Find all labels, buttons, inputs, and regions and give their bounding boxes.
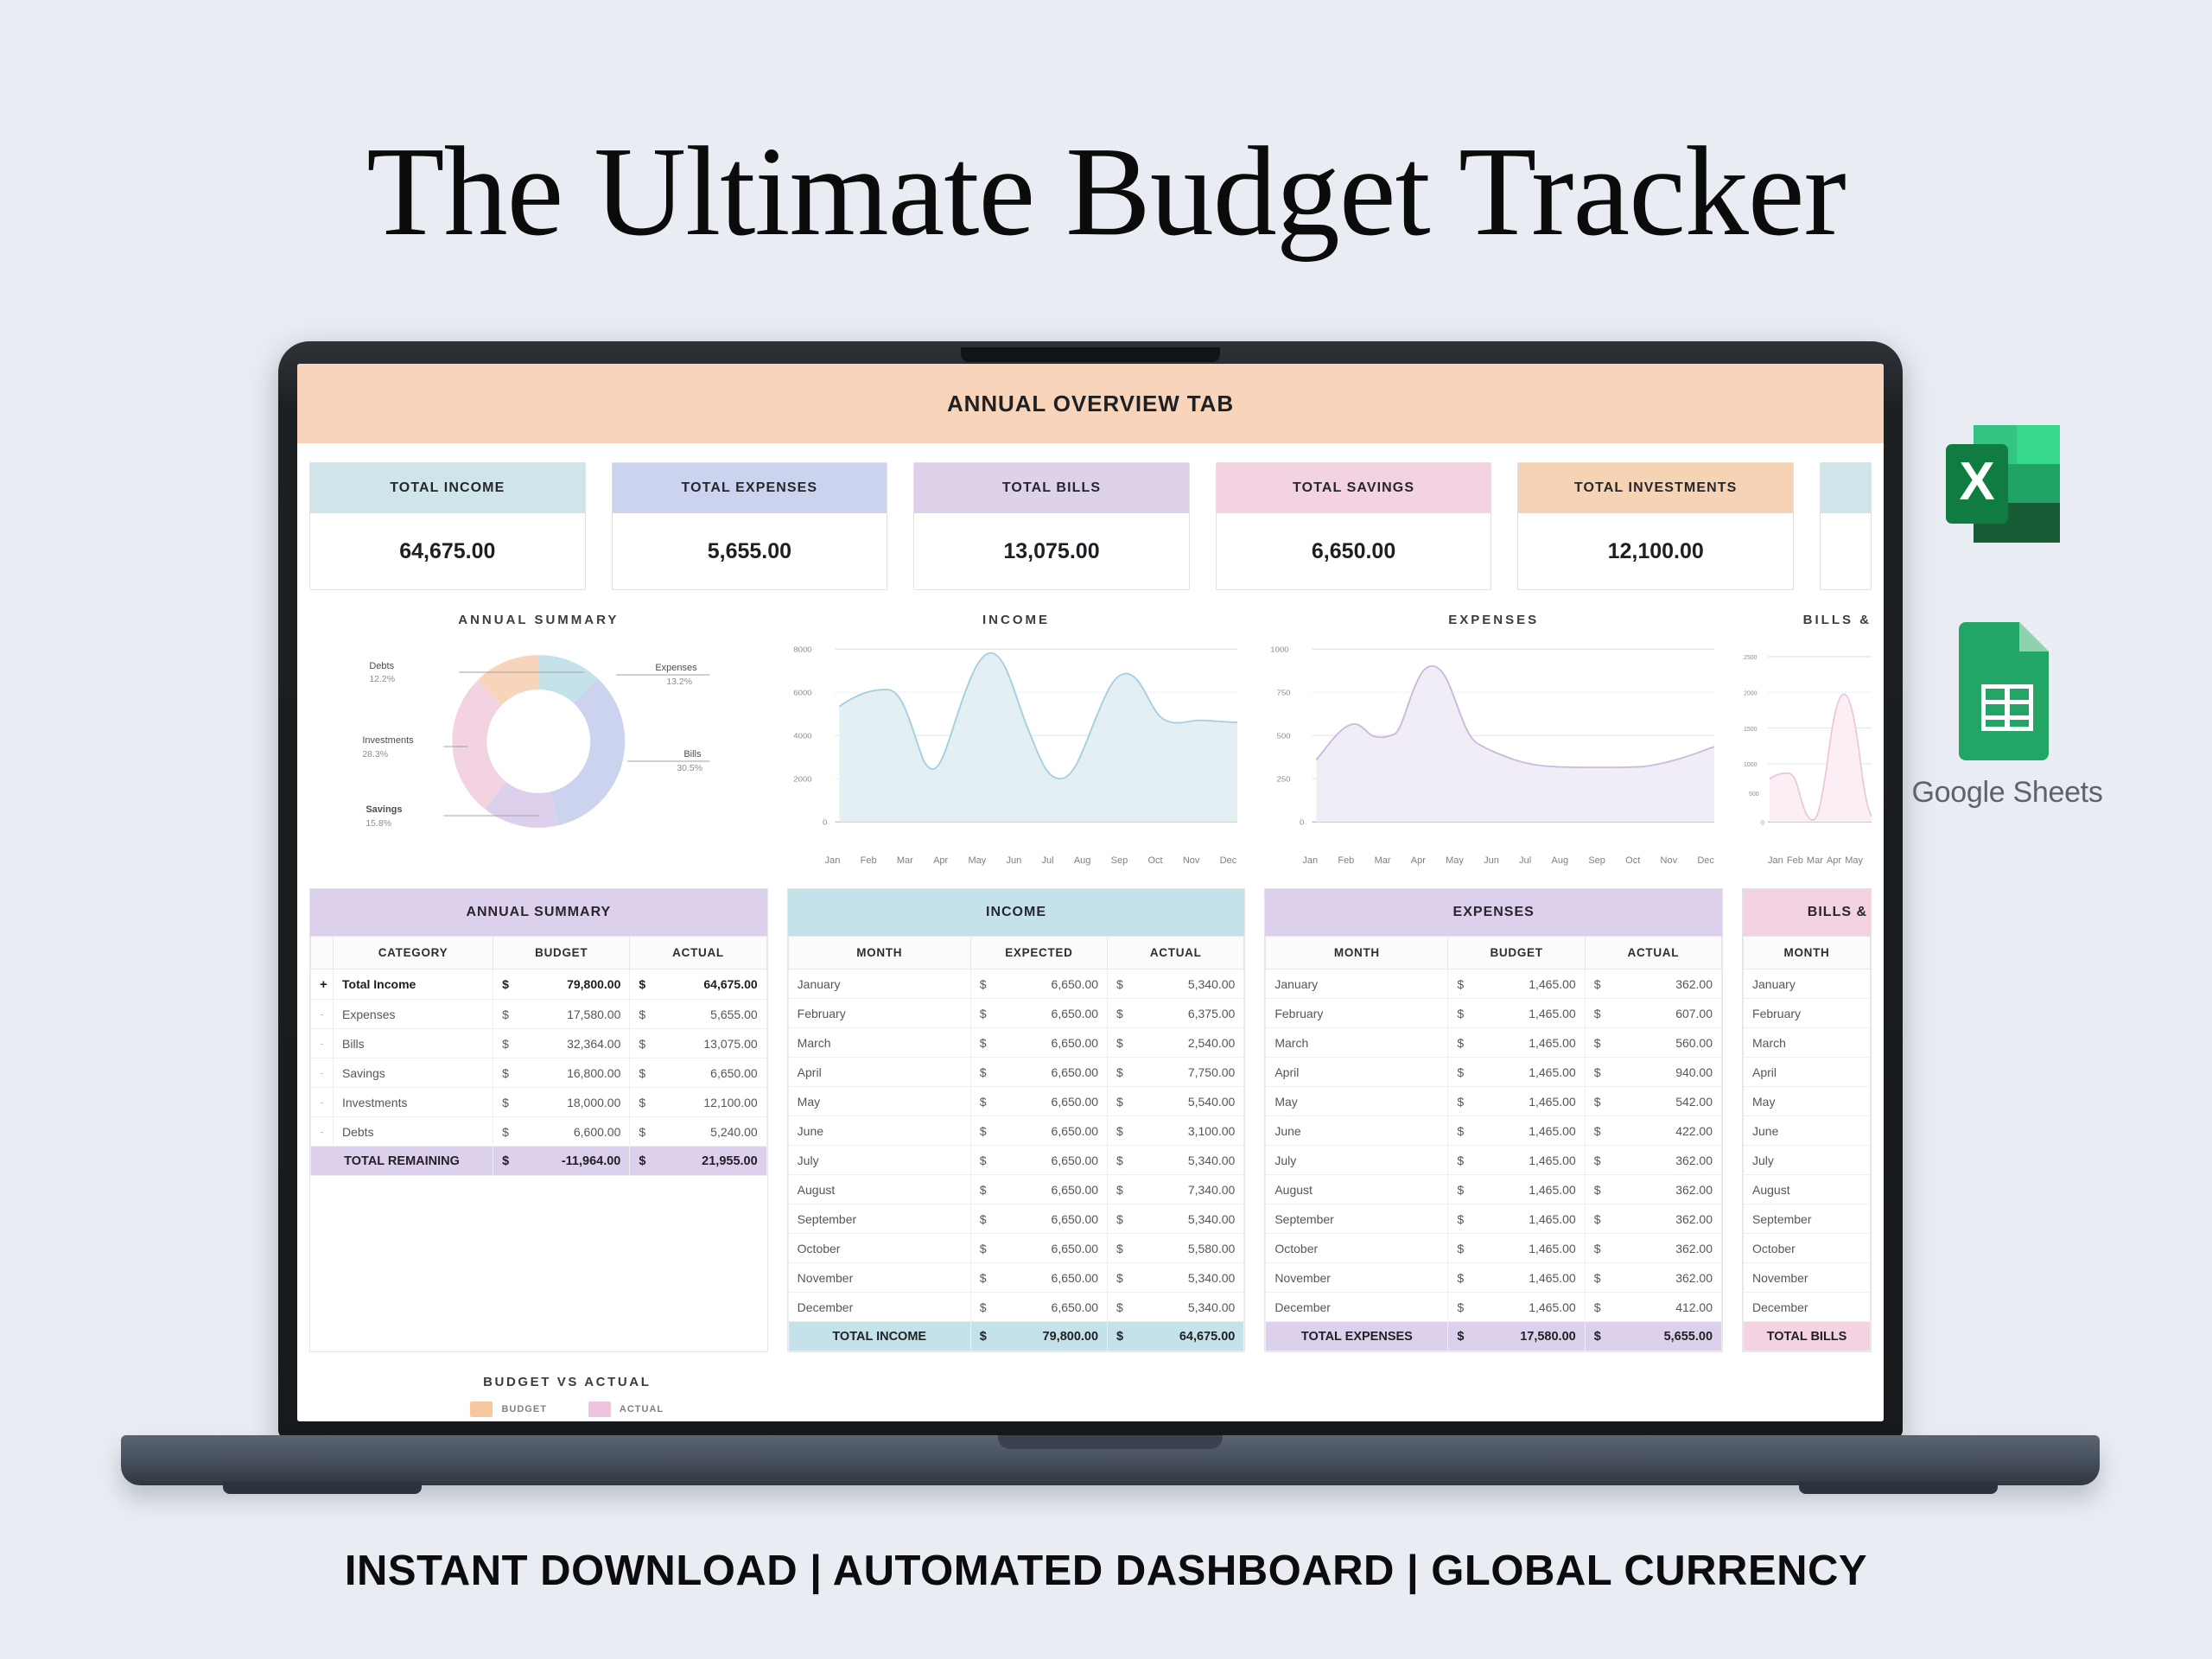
table-row[interactable]: June$6,650.00$3,100.00 (788, 1116, 1244, 1146)
donut-label-savings: Savings (365, 804, 402, 815)
svg-text:2000: 2000 (1744, 689, 1758, 696)
table-row[interactable]: April (1744, 1058, 1871, 1087)
table-row[interactable]: May$1,465.00$542.00 (1266, 1087, 1722, 1116)
chart-title: BILLS & (1742, 613, 1872, 627)
cell-expected: $6,650.00 (970, 1205, 1107, 1234)
expenses-area-plot: 1000 750 500 250 0 (1264, 636, 1723, 852)
total-expected: $79,800.00 (970, 1322, 1107, 1351)
cell-actual: $607.00 (1585, 999, 1721, 1028)
chart-bills-area[interactable]: BILLS & 2500 2000 1500 (1742, 613, 1872, 866)
table-row[interactable]: September$6,650.00$5,340.00 (788, 1205, 1244, 1234)
svg-text:500: 500 (1749, 789, 1759, 797)
x-tick: Oct (1147, 855, 1162, 866)
kpi-card-total-bills[interactable]: TOTAL BILLS 13,075.00 (913, 462, 1190, 590)
x-tick: Aug (1074, 855, 1091, 866)
laptop-screen: ANNUAL OVERVIEW TAB TOTAL INCOME 64,675.… (297, 364, 1884, 1421)
cell-month: July (1266, 1146, 1448, 1175)
cell-month: November (788, 1263, 970, 1293)
spreadsheet-dashboard: ANNUAL OVERVIEW TAB TOTAL INCOME 64,675.… (297, 364, 1884, 1421)
cell-month: November (1744, 1263, 1871, 1293)
x-tick: Mar (1375, 855, 1391, 866)
table-row[interactable]: August$1,465.00$362.00 (1266, 1175, 1722, 1205)
table-row[interactable]: August (1744, 1175, 1871, 1205)
cell-actual: $542.00 (1585, 1087, 1721, 1116)
svg-text:0: 0 (1300, 818, 1304, 826)
wordmark-google: Google (1911, 776, 2005, 809)
table-row[interactable]: January$1,465.00$362.00 (1266, 969, 1722, 999)
table-row[interactable]: - Investments $18,000.00 $12,100.00 (311, 1088, 767, 1117)
cell-actual: $5,240.00 (630, 1117, 766, 1147)
cell-budget: $16,800.00 (493, 1058, 630, 1088)
cell-actual: $5,340.00 (1108, 1205, 1244, 1234)
table-row[interactable]: July (1744, 1146, 1871, 1175)
col-month: MONTH (1744, 937, 1871, 969)
col-month: MONTH (1266, 937, 1448, 969)
total-label: TOTAL BILLS (1744, 1322, 1871, 1351)
table-row[interactable]: November$6,650.00$5,340.00 (788, 1263, 1244, 1293)
table-row[interactable]: January (1744, 969, 1871, 999)
cell-month: December (788, 1293, 970, 1322)
kpi-label (1821, 463, 1871, 513)
total-actual: $64,675.00 (1108, 1322, 1244, 1351)
table-annual-summary[interactable]: ANNUAL SUMMARY CATEGORY BUDGET ACTUAL + (309, 888, 768, 1352)
chart-title: ANNUAL SUMMARY (309, 613, 768, 627)
legend-swatch-actual (588, 1402, 611, 1417)
cell-month: May (1266, 1087, 1448, 1116)
donut-label-debts: Debts (369, 661, 394, 671)
x-tick: Nov (1183, 855, 1200, 866)
bills-x-axis: Jan Feb Mar Apr May (1742, 852, 1872, 866)
kpi-value: 5,655.00 (613, 513, 887, 589)
x-tick: Jun (1484, 855, 1499, 866)
table-row[interactable]: - Savings $16,800.00 $6,650.00 (311, 1058, 767, 1088)
cell-actual: $560.00 (1585, 1028, 1721, 1058)
cell-actual: $412.00 (1585, 1293, 1721, 1322)
svg-text:750: 750 (1277, 689, 1291, 696)
kpi-value: 6,650.00 (1217, 513, 1491, 589)
cell-month: June (1266, 1116, 1448, 1146)
x-tick: Nov (1661, 855, 1678, 866)
kpi-card-total-expenses[interactable]: TOTAL EXPENSES 5,655.00 (612, 462, 888, 590)
cell-expected: $6,650.00 (970, 1175, 1107, 1205)
cell-category: Bills (334, 1029, 493, 1058)
wordmark-sheets: Sheets (2012, 776, 2102, 809)
cell-budget: $1,465.00 (1448, 1028, 1585, 1058)
table-row[interactable]: August$6,650.00$7,340.00 (788, 1175, 1244, 1205)
laptop-mockup: ANNUAL OVERVIEW TAB TOTAL INCOME 64,675.… (121, 341, 2100, 1525)
google-sheets-icon (1955, 622, 2059, 760)
col-month: MONTH (788, 937, 970, 969)
cell-expected: $6,650.00 (970, 1234, 1107, 1263)
cell-month: June (1744, 1116, 1871, 1146)
cell-expected: $6,650.00 (970, 1058, 1107, 1087)
cell-month: December (1744, 1293, 1871, 1322)
cell-budget: $1,465.00 (1448, 1087, 1585, 1116)
cell-month: November (1266, 1263, 1448, 1293)
legend-actual: ACTUAL (588, 1402, 664, 1417)
cell-actual: $7,750.00 (1108, 1058, 1244, 1087)
charts-row: ANNUAL SUMMARY (297, 590, 1884, 866)
cell-actual: $3,100.00 (1108, 1116, 1244, 1146)
cell-month: May (788, 1087, 970, 1116)
cell-actual: $5,340.00 (1108, 1146, 1244, 1175)
x-tick: Apr (1411, 855, 1426, 866)
income-area-plot: 8000 6000 4000 2000 0 (787, 636, 1246, 852)
bills-rows: JanuaryFebruaryMarchAprilMayJuneJulyAugu… (1744, 969, 1871, 1322)
col-budget: BUDGET (493, 937, 630, 969)
cell-expected: $6,650.00 (970, 1087, 1107, 1116)
table-banner: EXPENSES (1265, 889, 1722, 936)
kpi-value: 13,075.00 (914, 513, 1189, 589)
cell-category: Investments (334, 1088, 493, 1117)
chart-income-area[interactable]: INCOME 8000 6000 4000 2 (787, 613, 1246, 866)
cell-expected: $6,650.00 (970, 1146, 1107, 1175)
cell-month: August (1744, 1175, 1871, 1205)
cell-category: Savings (334, 1058, 493, 1088)
svg-text:1500: 1500 (1744, 724, 1758, 732)
cell-expected: $6,650.00 (970, 999, 1107, 1028)
table-row[interactable]: November (1744, 1263, 1871, 1293)
table-row[interactable]: February$1,465.00$607.00 (1266, 999, 1722, 1028)
income-x-axis: Jan Feb Mar Apr May Jun Jul Aug Sep Oct … (787, 852, 1246, 866)
cell-month: September (1744, 1205, 1871, 1234)
x-tick: Apr (1827, 855, 1841, 866)
cell-actual: $13,075.00 (630, 1029, 766, 1058)
cell-actual: $2,540.00 (1108, 1028, 1244, 1058)
cell-month: February (788, 999, 970, 1028)
cell-month: October (1744, 1234, 1871, 1263)
kpi-label: TOTAL SAVINGS (1217, 463, 1491, 513)
x-tick: Jan (1302, 855, 1318, 866)
cell-month: January (788, 969, 970, 999)
google-sheets-wordmark: Google Sheets (1899, 776, 2115, 810)
cell-month: December (1266, 1293, 1448, 1322)
cell-expected: $6,650.00 (970, 1263, 1107, 1293)
cell-month: September (788, 1205, 970, 1234)
cell-budget: $1,465.00 (1448, 1116, 1585, 1146)
donut-pct-debts: 12.2% (369, 674, 395, 684)
table-row[interactable]: December$6,650.00$5,340.00 (788, 1293, 1244, 1322)
total-label: TOTAL EXPENSES (1266, 1322, 1448, 1351)
expand-toggle[interactable]: + (311, 969, 334, 1000)
cell-budget: $1,465.00 (1448, 1175, 1585, 1205)
table-bills[interactable]: BILLS & MONTH JanuaryFebruaryMarchAprilM… (1742, 888, 1872, 1352)
table-row[interactable]: June (1744, 1116, 1871, 1146)
platform-logos: X Google Sheets (1899, 423, 2115, 810)
x-tick: Mar (1807, 855, 1823, 866)
table-row[interactable]: October (1744, 1234, 1871, 1263)
cell-actual: $5,340.00 (1108, 1293, 1244, 1322)
table-row[interactable]: September$1,465.00$362.00 (1266, 1205, 1722, 1234)
table-banner: BILLS & (1743, 889, 1871, 936)
x-tick: Jun (1007, 855, 1022, 866)
cell-actual: $362.00 (1585, 969, 1721, 999)
table-row[interactable]: - Bills $32,364.00 $13,075.00 (311, 1029, 767, 1058)
kpi-value: 64,675.00 (310, 513, 585, 589)
svg-text:2000: 2000 (793, 775, 811, 783)
chart-title: BUDGET VS ACTUAL (309, 1375, 825, 1389)
donut-label-investments: Investments (362, 735, 414, 746)
chart-expenses-area[interactable]: EXPENSES 1000 750 500 2 (1264, 613, 1723, 866)
cell-expected: $6,650.00 (970, 1293, 1107, 1322)
table-row[interactable]: April$1,465.00$940.00 (1266, 1058, 1722, 1087)
svg-text:0: 0 (823, 818, 827, 826)
col-category: CATEGORY (334, 937, 493, 969)
x-tick: Aug (1551, 855, 1568, 866)
expenses-x-axis: Jan Feb Mar Apr May Jun Jul Aug Sep Oct … (1264, 852, 1723, 866)
row-marker[interactable]: - (311, 1117, 334, 1147)
table-row[interactable]: September (1744, 1205, 1871, 1234)
laptop-base (121, 1435, 2100, 1485)
expenses-rows: January$1,465.00$362.00February$1,465.00… (1266, 969, 1722, 1322)
table-row[interactable]: March$6,650.00$2,540.00 (788, 1028, 1244, 1058)
cell-actual: $64,675.00 (630, 969, 766, 1000)
cell-budget: $1,465.00 (1448, 1058, 1585, 1087)
table-row[interactable]: February$6,650.00$6,375.00 (788, 999, 1244, 1028)
chart-budget-vs-actual[interactable]: BUDGET VS ACTUAL BUDGET ACTUAL (297, 1352, 1884, 1421)
cell-actual: $362.00 (1585, 1205, 1721, 1234)
row-marker[interactable]: - (311, 1000, 334, 1029)
cell-month: April (788, 1058, 970, 1087)
donut-pct-investments: 28.3% (362, 749, 388, 760)
cell-budget: $1,465.00 (1448, 969, 1585, 999)
cell-actual: $5,655.00 (630, 1000, 766, 1029)
cell-month: July (1744, 1146, 1871, 1175)
svg-text:4000: 4000 (793, 732, 811, 740)
footer-tagline: INSTANT DOWNLOAD | AUTOMATED DASHBOARD |… (0, 1547, 2212, 1595)
table-total-row: TOTAL INCOME $79,800.00 $64,675.00 (788, 1322, 1244, 1351)
cell-month: April (1266, 1058, 1448, 1087)
cell-budget: $18,000.00 (493, 1088, 630, 1117)
table-row[interactable]: + Total Income $79,800.00 $64,675.00 (311, 969, 767, 1000)
table-total-row: TOTAL BILLS (1744, 1322, 1871, 1351)
chart-title: EXPENSES (1264, 613, 1723, 627)
cell-month: January (1266, 969, 1448, 999)
table-row[interactable]: February (1744, 999, 1871, 1028)
table-header-row: CATEGORY BUDGET ACTUAL (311, 937, 767, 969)
row-marker[interactable]: - (311, 1058, 334, 1088)
kpi-card-total-income[interactable]: TOTAL INCOME 64,675.00 (309, 462, 586, 590)
table-row[interactable]: May$6,650.00$5,540.00 (788, 1087, 1244, 1116)
x-tick: Feb (861, 855, 877, 866)
kpi-label: TOTAL INVESTMENTS (1518, 463, 1793, 513)
kpi-label: TOTAL EXPENSES (613, 463, 887, 513)
chart-annual-summary-donut[interactable]: ANNUAL SUMMARY (309, 613, 768, 866)
legend-label: ACTUAL (620, 1404, 664, 1414)
svg-text:1000: 1000 (1744, 760, 1758, 768)
table-income[interactable]: INCOME MONTH EXPECTED ACTUAL January$6,6… (787, 888, 1246, 1352)
kpi-label: TOTAL BILLS (914, 463, 1189, 513)
cell-budget: $79,800.00 (493, 969, 630, 1000)
x-tick: Jan (1768, 855, 1783, 866)
x-tick: May (1845, 855, 1863, 866)
donut-label-bills: Bills (683, 749, 702, 760)
total-label: TOTAL INCOME (788, 1322, 970, 1351)
cell-budget: $1,465.00 (1448, 1263, 1585, 1293)
dashboard-title-banner: ANNUAL OVERVIEW TAB (297, 364, 1884, 443)
cell-actual: $5,340.00 (1108, 1263, 1244, 1293)
cell-month: October (788, 1234, 970, 1263)
x-tick: Jul (1042, 855, 1054, 866)
table-row[interactable]: July$1,465.00$362.00 (1266, 1146, 1722, 1175)
excel-icon: X (1942, 423, 2072, 544)
cell-actual: $362.00 (1585, 1263, 1721, 1293)
kpi-label: TOTAL INCOME (310, 463, 585, 513)
col-expected: EXPECTED (970, 937, 1107, 969)
x-tick: Apr (933, 855, 948, 866)
col-actual: ACTUAL (630, 937, 766, 969)
total-actual: $21,955.00 (630, 1147, 766, 1176)
total-budget: $17,580.00 (1448, 1322, 1585, 1351)
x-tick: Feb (1338, 855, 1354, 866)
svg-text:2500: 2500 (1744, 653, 1758, 661)
table-row[interactable]: May (1744, 1087, 1871, 1116)
cell-month: July (788, 1146, 970, 1175)
cell-actual: $12,100.00 (630, 1088, 766, 1117)
total-actual: $5,655.00 (1585, 1322, 1721, 1351)
cell-category: Debts (334, 1117, 493, 1147)
x-tick: Oct (1625, 855, 1640, 866)
kpi-value (1821, 513, 1871, 589)
cell-actual: $6,375.00 (1108, 999, 1244, 1028)
cell-budget: $6,600.00 (493, 1117, 630, 1147)
svg-text:X: X (1959, 452, 1994, 512)
table-row[interactable]: March$1,465.00$560.00 (1266, 1028, 1722, 1058)
donut-pct-expenses: 13.2% (666, 677, 692, 687)
cell-actual: $362.00 (1585, 1234, 1721, 1263)
kpi-card-total-savings[interactable]: TOTAL SAVINGS 6,650.00 (1216, 462, 1492, 590)
svg-text:6000: 6000 (793, 689, 811, 696)
table-row[interactable]: December (1744, 1293, 1871, 1322)
cell-month: March (1744, 1028, 1871, 1058)
legend-swatch-budget (470, 1402, 493, 1417)
svg-text:8000: 8000 (793, 645, 811, 653)
kpi-card-partial[interactable] (1820, 462, 1872, 590)
table-header-row: MONTH EXPECTED ACTUAL (788, 937, 1244, 969)
cell-actual: $6,650.00 (630, 1058, 766, 1088)
table-total-row: TOTAL REMAINING $-11,964.00 $21,955.00 (311, 1147, 767, 1176)
cell-budget: $1,465.00 (1448, 1205, 1585, 1234)
cell-budget: $17,580.00 (493, 1000, 630, 1029)
table-row[interactable]: March (1744, 1028, 1871, 1058)
x-tick: Jul (1519, 855, 1531, 866)
cell-actual: $422.00 (1585, 1116, 1721, 1146)
table-row[interactable]: December$1,465.00$412.00 (1266, 1293, 1722, 1322)
cell-budget: $1,465.00 (1448, 1146, 1585, 1175)
table-header-row: MONTH (1744, 937, 1871, 969)
cell-budget: $32,364.00 (493, 1029, 630, 1058)
cell-actual: $5,340.00 (1108, 969, 1244, 999)
x-tick: Sep (1111, 855, 1128, 866)
x-tick: Mar (897, 855, 913, 866)
col-actual: ACTUAL (1585, 937, 1721, 969)
x-tick: Feb (1787, 855, 1803, 866)
table-row[interactable]: - Debts $6,600.00 $5,240.00 (311, 1117, 767, 1147)
table-row[interactable]: June$1,465.00$422.00 (1266, 1116, 1722, 1146)
svg-text:500: 500 (1277, 732, 1291, 740)
cell-expected: $6,650.00 (970, 1028, 1107, 1058)
chart-title: INCOME (787, 613, 1246, 627)
kpi-value: 12,100.00 (1518, 513, 1793, 589)
x-tick: May (1446, 855, 1464, 866)
tables-row: ANNUAL SUMMARY CATEGORY BUDGET ACTUAL + (297, 866, 1884, 1352)
cell-month: January (1744, 969, 1871, 999)
table-expenses[interactable]: EXPENSES MONTH BUDGET ACTUAL January$1,4… (1264, 888, 1723, 1352)
page-title: The Ultimate Budget Tracker (0, 128, 2212, 256)
cell-actual: $362.00 (1585, 1146, 1721, 1175)
table-row[interactable]: April$6,650.00$7,750.00 (788, 1058, 1244, 1087)
cell-category: Expenses (334, 1000, 493, 1029)
table-row[interactable]: October$6,650.00$5,580.00 (788, 1234, 1244, 1263)
cell-month: August (788, 1175, 970, 1205)
x-tick: Dec (1220, 855, 1237, 866)
donut-chart: Debts 12.2% Expenses 13.2% Investments 2… (309, 636, 768, 852)
cell-month: April (1744, 1058, 1871, 1087)
table-row[interactable]: July$6,650.00$5,340.00 (788, 1146, 1244, 1175)
cell-budget: $1,465.00 (1448, 999, 1585, 1028)
svg-text:0: 0 (1761, 818, 1764, 826)
table-row[interactable]: January$6,650.00$5,340.00 (788, 969, 1244, 999)
cell-budget: $1,465.00 (1448, 1293, 1585, 1322)
cell-actual: $7,340.00 (1108, 1175, 1244, 1205)
cell-budget: $1,465.00 (1448, 1234, 1585, 1263)
row-marker[interactable]: - (311, 1088, 334, 1117)
chart-legend: BUDGET ACTUAL (309, 1402, 825, 1417)
cell-expected: $6,650.00 (970, 969, 1107, 999)
cell-expected: $6,650.00 (970, 1116, 1107, 1146)
svg-text:250: 250 (1277, 775, 1291, 783)
table-row[interactable]: - Expenses $17,580.00 $5,655.00 (311, 1000, 767, 1029)
cell-month: February (1744, 999, 1871, 1028)
total-label: TOTAL REMAINING (311, 1147, 493, 1176)
total-budget: $-11,964.00 (493, 1147, 630, 1176)
table-total-row: TOTAL EXPENSES $17,580.00 $5,655.00 (1266, 1322, 1722, 1351)
kpi-card-total-investments[interactable]: TOTAL INVESTMENTS 12,100.00 (1517, 462, 1794, 590)
x-tick: Jan (825, 855, 841, 866)
table-header-row: MONTH BUDGET ACTUAL (1266, 937, 1722, 969)
legend-budget: BUDGET (470, 1402, 546, 1417)
row-marker[interactable]: - (311, 1029, 334, 1058)
x-tick: Sep (1588, 855, 1605, 866)
col-actual: ACTUAL (1108, 937, 1244, 969)
cell-actual: $940.00 (1585, 1058, 1721, 1087)
donut-pct-bills: 30.5% (677, 763, 702, 773)
table-row[interactable]: November$1,465.00$362.00 (1266, 1263, 1722, 1293)
cell-month: September (1266, 1205, 1448, 1234)
cell-month: March (1266, 1028, 1448, 1058)
cell-category: Total Income (334, 969, 493, 1000)
col-budget: BUDGET (1448, 937, 1585, 969)
donut-label-expenses: Expenses (655, 663, 697, 673)
kpi-card-row: TOTAL INCOME 64,675.00 TOTAL EXPENSES 5,… (297, 443, 1884, 590)
income-rows: January$6,650.00$5,340.00February$6,650.… (788, 969, 1244, 1322)
cell-month: October (1266, 1234, 1448, 1263)
donut-pct-savings: 15.8% (365, 818, 391, 829)
cell-actual: $5,540.00 (1108, 1087, 1244, 1116)
x-tick: May (968, 855, 986, 866)
cell-month: June (788, 1116, 970, 1146)
table-row[interactable]: October$1,465.00$362.00 (1266, 1234, 1722, 1263)
laptop-notch (961, 347, 1220, 362)
cell-month: May (1744, 1087, 1871, 1116)
legend-label: BUDGET (501, 1404, 546, 1414)
table-banner: ANNUAL SUMMARY (310, 889, 767, 936)
laptop-foot-right (1799, 1482, 1998, 1494)
cell-month: March (788, 1028, 970, 1058)
svg-text:1000: 1000 (1271, 645, 1289, 653)
laptop-foot-left (223, 1482, 422, 1494)
cell-actual: $5,580.00 (1108, 1234, 1244, 1263)
